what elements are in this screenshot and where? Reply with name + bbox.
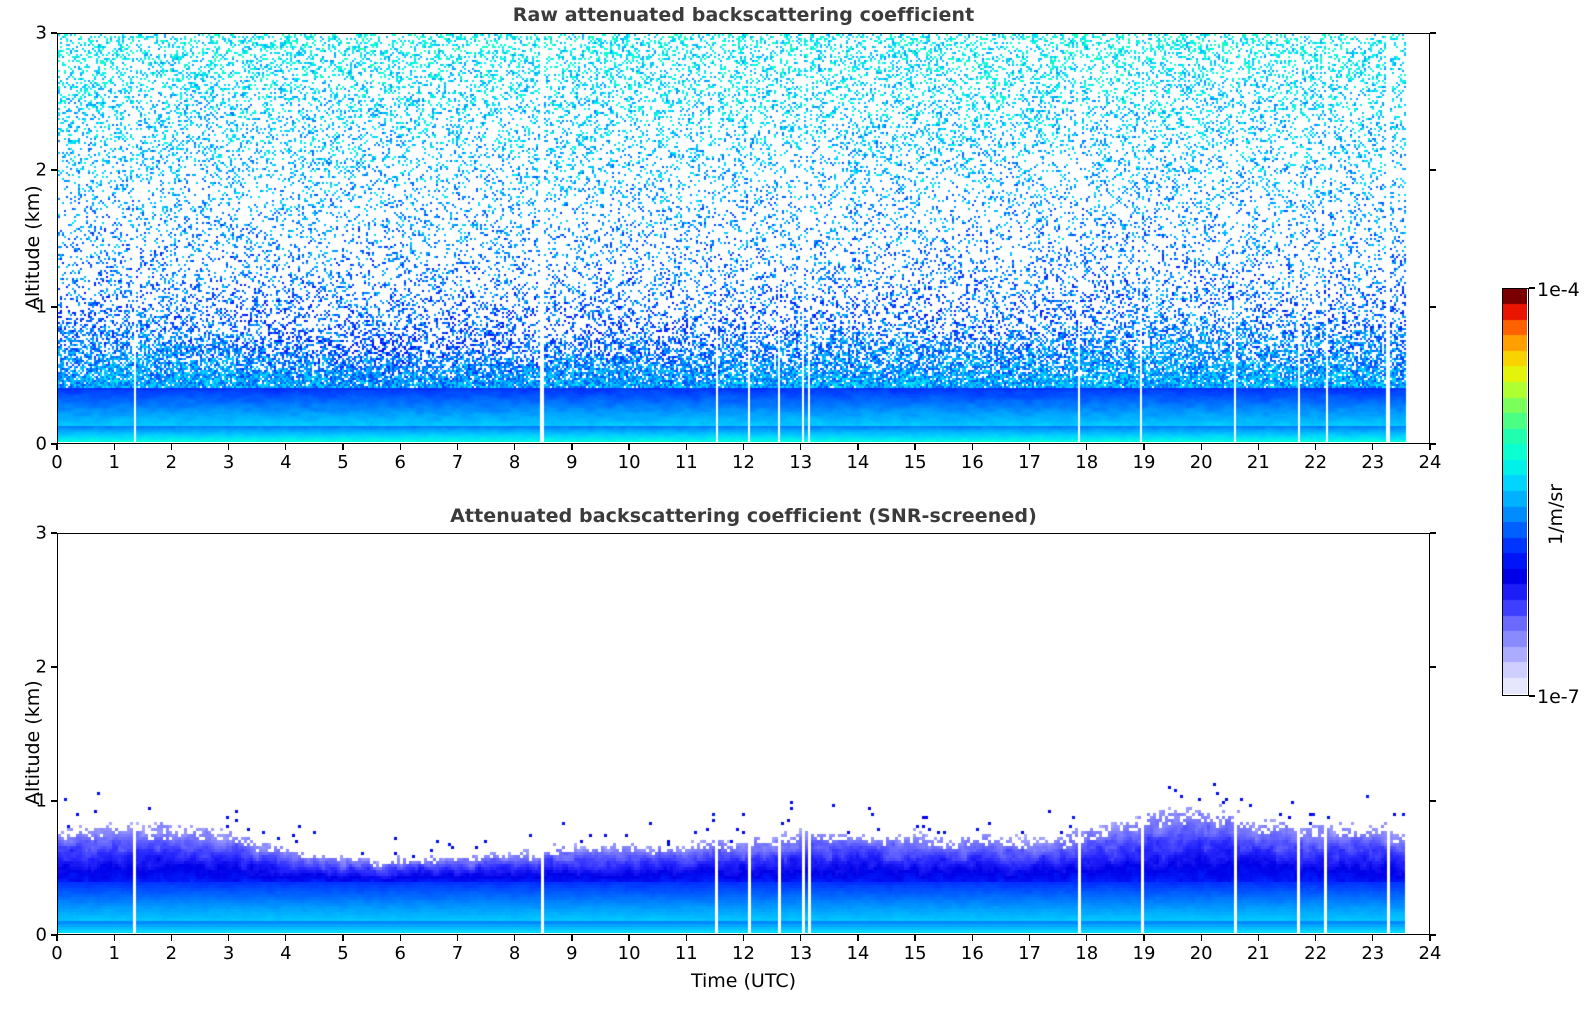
y-tick-mark-right — [1430, 443, 1436, 444]
x-tick-mark — [514, 444, 515, 450]
y-tick-mark-right — [1430, 306, 1436, 307]
y-tick-label: 1 — [23, 297, 47, 318]
x-tick-label: 0 — [51, 943, 62, 964]
x-tick-label: 19 — [1133, 943, 1156, 964]
x-tick-label: 10 — [618, 452, 641, 473]
y-tick-mark — [51, 306, 57, 307]
x-tick-label: 14 — [846, 943, 869, 964]
x-tick-mark — [1201, 444, 1202, 450]
x-axis-label: Time (UTC) — [57, 970, 1430, 992]
x-tick-mark — [56, 444, 57, 450]
x-tick-mark — [114, 935, 115, 941]
x-tick-label: 3 — [223, 943, 234, 964]
x-tick-label: 20 — [1190, 943, 1213, 964]
x-tick-mark — [571, 935, 572, 941]
x-tick-mark — [342, 935, 343, 941]
x-tick-label: 2 — [166, 452, 177, 473]
x-tick-mark — [628, 935, 629, 941]
x-tick-label: 13 — [789, 452, 812, 473]
x-tick-label: 11 — [675, 452, 698, 473]
x-tick-label: 7 — [452, 943, 463, 964]
x-tick-label: 15 — [904, 943, 927, 964]
x-tick-mark — [1086, 444, 1087, 450]
x-tick-mark — [972, 935, 973, 941]
x-tick-label: 12 — [732, 943, 755, 964]
y-axis-label-screened: Altitude (km) — [22, 680, 44, 805]
colorbar — [1502, 288, 1529, 696]
x-tick-mark — [1258, 935, 1259, 941]
x-tick-mark — [1372, 444, 1373, 450]
x-tick-label: 7 — [452, 452, 463, 473]
x-tick-label: 12 — [732, 452, 755, 473]
x-tick-label: 0 — [51, 452, 62, 473]
x-tick-mark — [228, 935, 229, 941]
y-tick-mark-right — [1430, 800, 1436, 801]
x-tick-mark — [743, 444, 744, 450]
colorbar-min-label: 1e-7 — [1537, 686, 1580, 708]
x-tick-label: 19 — [1133, 452, 1156, 473]
x-tick-mark — [400, 444, 401, 450]
x-tick-label: 4 — [280, 452, 291, 473]
x-tick-mark — [514, 935, 515, 941]
x-tick-label: 16 — [961, 943, 984, 964]
x-tick-label: 6 — [395, 452, 406, 473]
x-tick-label: 17 — [1018, 452, 1041, 473]
colorbar-unit-label: 1/m/sr — [1545, 484, 1567, 545]
y-tick-mark — [51, 934, 57, 935]
y-axis-label-raw: Altitude (km) — [22, 185, 44, 310]
colorbar-tick-max — [1529, 287, 1535, 288]
y-tick-label: 2 — [23, 657, 47, 678]
x-tick-mark — [857, 935, 858, 941]
x-tick-mark — [1315, 935, 1316, 941]
x-tick-mark — [1429, 444, 1430, 450]
x-tick-label: 18 — [1075, 943, 1098, 964]
x-tick-mark — [914, 935, 915, 941]
x-tick-mark — [228, 444, 229, 450]
x-tick-mark — [1372, 935, 1373, 941]
plot-area-raw — [57, 33, 1430, 444]
x-tick-mark — [457, 935, 458, 941]
y-tick-mark-right — [1430, 32, 1436, 33]
x-tick-label: 22 — [1304, 943, 1327, 964]
x-tick-label: 1 — [108, 943, 119, 964]
y-tick-mark-right — [1430, 666, 1436, 667]
plot-area-screened — [57, 533, 1430, 935]
x-tick-mark — [457, 444, 458, 450]
x-tick-mark — [686, 935, 687, 941]
y-tick-mark — [51, 666, 57, 667]
x-tick-mark — [1258, 444, 1259, 450]
x-tick-label: 23 — [1361, 452, 1384, 473]
x-tick-mark — [171, 935, 172, 941]
x-tick-label: 8 — [509, 452, 520, 473]
x-tick-mark — [1315, 444, 1316, 450]
x-tick-label: 24 — [1419, 943, 1442, 964]
x-tick-label: 9 — [566, 943, 577, 964]
y-tick-mark-right — [1430, 169, 1436, 170]
x-tick-label: 23 — [1361, 943, 1384, 964]
x-tick-mark — [342, 444, 343, 450]
panel-title-screened: Attenuated backscattering coefficient (S… — [57, 505, 1430, 527]
x-tick-mark — [400, 935, 401, 941]
x-tick-label: 17 — [1018, 943, 1041, 964]
x-tick-label: 24 — [1419, 452, 1442, 473]
x-tick-mark — [1143, 935, 1144, 941]
x-tick-mark — [56, 935, 57, 941]
colorbar-tick-min — [1529, 695, 1535, 696]
x-tick-mark — [1201, 935, 1202, 941]
x-tick-mark — [857, 444, 858, 450]
y-tick-mark-right — [1430, 934, 1436, 935]
lidar-backscatter-figure: Raw attenuated backscattering coefficien… — [0, 0, 1595, 1020]
x-tick-label: 15 — [904, 452, 927, 473]
y-tick-label: 0 — [23, 434, 47, 455]
x-tick-mark — [171, 444, 172, 450]
x-tick-mark — [285, 935, 286, 941]
x-tick-label: 6 — [395, 943, 406, 964]
x-tick-label: 21 — [1247, 943, 1270, 964]
y-tick-label: 2 — [23, 160, 47, 181]
x-tick-mark — [1029, 444, 1030, 450]
y-tick-mark — [51, 32, 57, 33]
x-tick-label: 20 — [1190, 452, 1213, 473]
y-tick-label: 3 — [23, 523, 47, 544]
x-tick-label: 4 — [280, 943, 291, 964]
x-tick-mark — [972, 444, 973, 450]
x-tick-label: 2 — [166, 943, 177, 964]
y-tick-mark — [51, 532, 57, 533]
x-tick-mark — [571, 444, 572, 450]
x-tick-mark — [686, 444, 687, 450]
x-tick-label: 18 — [1075, 452, 1098, 473]
x-tick-label: 3 — [223, 452, 234, 473]
x-tick-label: 1 — [108, 452, 119, 473]
x-tick-label: 9 — [566, 452, 577, 473]
y-tick-label: 1 — [23, 791, 47, 812]
y-tick-label: 0 — [23, 925, 47, 946]
y-tick-mark — [51, 800, 57, 801]
colorbar-max-label: 1e-4 — [1537, 279, 1580, 301]
x-tick-mark — [800, 444, 801, 450]
x-tick-mark — [914, 444, 915, 450]
y-tick-label: 3 — [23, 23, 47, 44]
x-tick-label: 11 — [675, 943, 698, 964]
panel-title-raw: Raw attenuated backscattering coefficien… — [57, 4, 1430, 26]
x-tick-label: 5 — [337, 452, 348, 473]
x-tick-label: 16 — [961, 452, 984, 473]
x-tick-label: 5 — [337, 943, 348, 964]
x-tick-label: 8 — [509, 943, 520, 964]
x-tick-mark — [743, 935, 744, 941]
x-tick-label: 10 — [618, 943, 641, 964]
x-tick-mark — [114, 444, 115, 450]
x-tick-label: 14 — [846, 452, 869, 473]
x-tick-label: 22 — [1304, 452, 1327, 473]
x-tick-label: 13 — [789, 943, 812, 964]
x-tick-mark — [1143, 444, 1144, 450]
x-tick-mark — [1086, 935, 1087, 941]
x-tick-mark — [285, 444, 286, 450]
y-tick-mark — [51, 443, 57, 444]
y-tick-mark — [51, 169, 57, 170]
y-tick-mark-right — [1430, 532, 1436, 533]
x-tick-mark — [1029, 935, 1030, 941]
x-tick-mark — [628, 444, 629, 450]
x-tick-mark — [800, 935, 801, 941]
x-tick-label: 21 — [1247, 452, 1270, 473]
x-tick-mark — [1429, 935, 1430, 941]
